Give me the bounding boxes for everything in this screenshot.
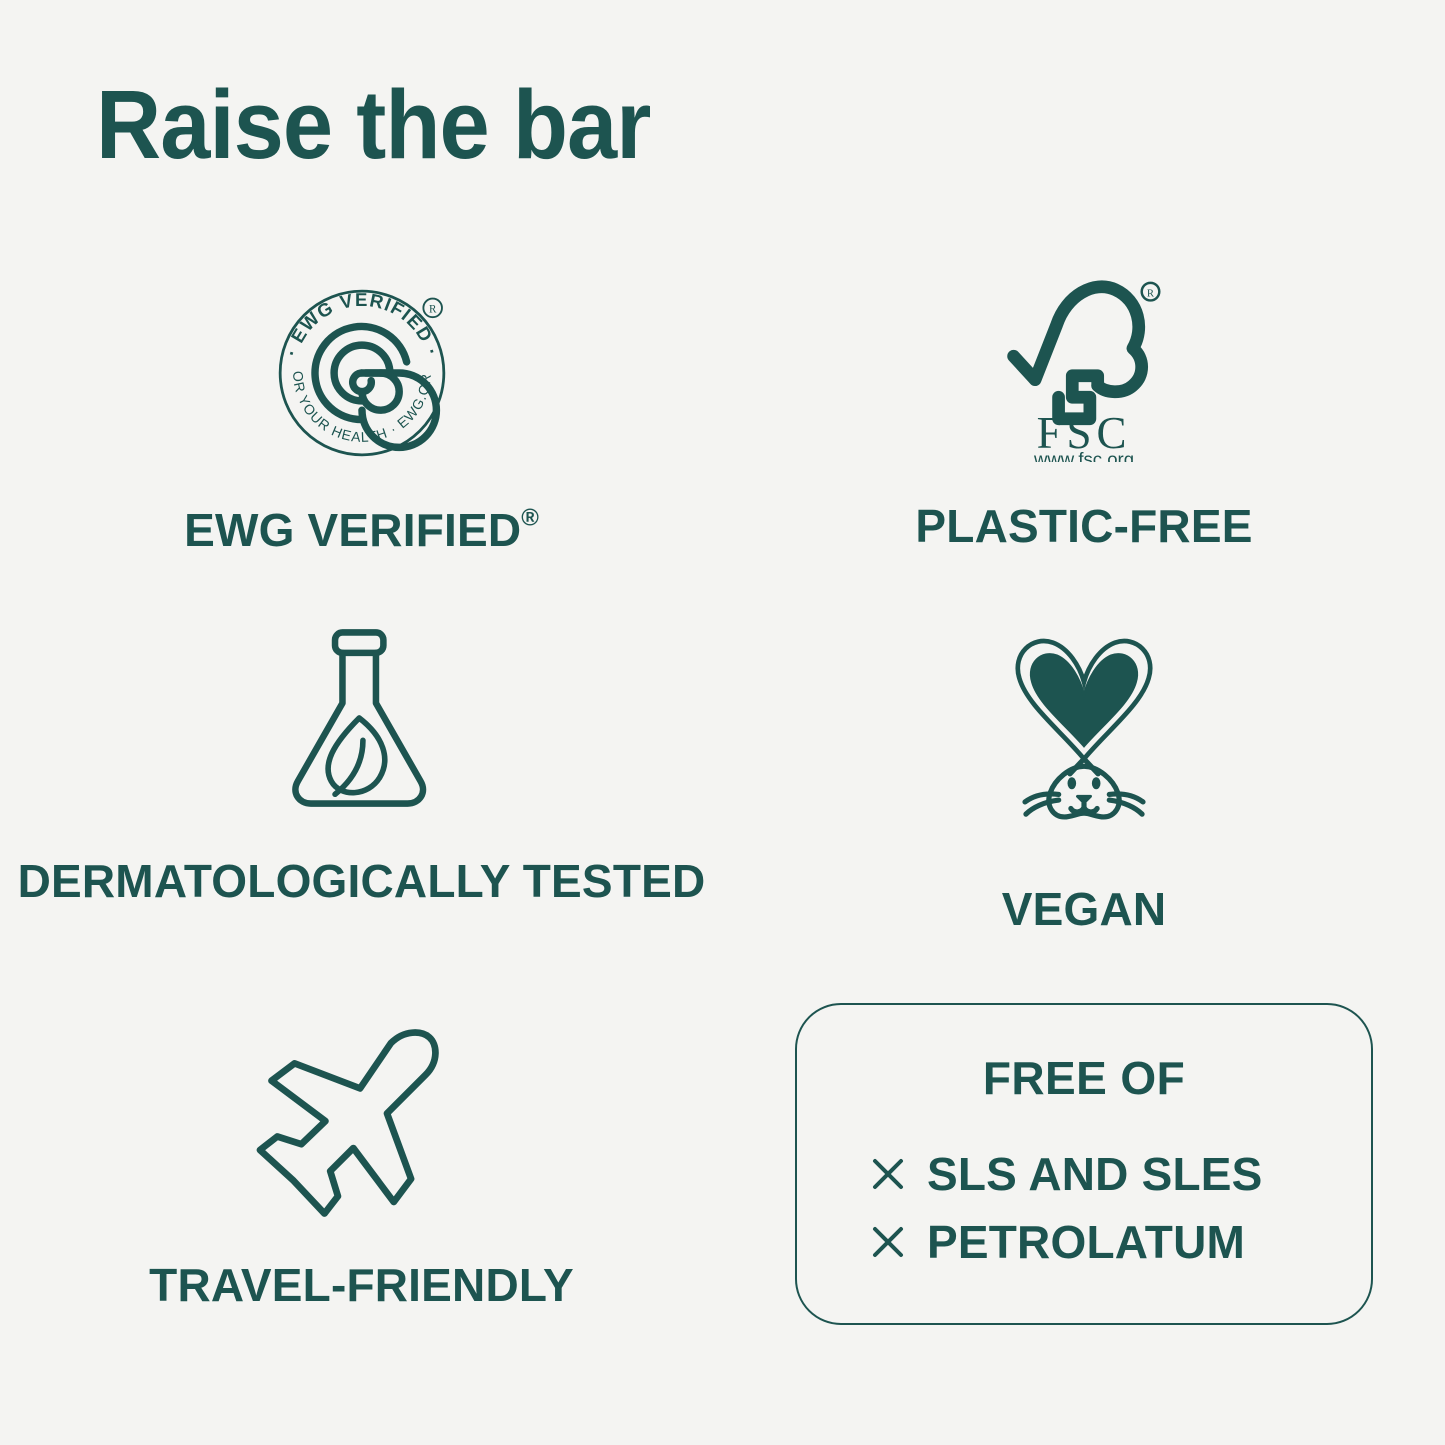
- fsc-url: www.fsc.org: [1033, 449, 1134, 462]
- bunny-heart-ears-icon: [995, 629, 1173, 825]
- badge-travel-friendly: TRAVEL-FRIENDLY: [0, 993, 723, 1365]
- badge-plastic-free: R FSC www.fsc.org PLASTIC-FREE: [723, 258, 1445, 593]
- badge-label: DERMATOLOGICALLY TESTED: [18, 853, 706, 911]
- svg-text:R: R: [428, 304, 436, 316]
- x-mark-icon: [871, 1225, 905, 1259]
- free-of-item-label: SLS AND SLES: [927, 1147, 1263, 1201]
- free-of-list: SLS AND SLES PETROLATUM: [871, 1147, 1263, 1269]
- svg-text:R: R: [1147, 288, 1155, 300]
- airplane-icon: [246, 1021, 478, 1227]
- badge-label: TRAVEL-FRIENDLY: [149, 1257, 574, 1315]
- flask-leaf-icon: [282, 625, 442, 811]
- fsc-tree-checkmark-icon: R FSC www.fsc.org: [996, 266, 1172, 462]
- badge-dermatologically-tested: DERMATOLOGICALLY TESTED: [0, 593, 723, 993]
- badge-ewg-verified: · EWG VERIFIED · FOR YOUR HEALTH · EWG.O…: [0, 258, 723, 593]
- free-of-item: PETROLATUM: [871, 1215, 1263, 1269]
- raise-the-bar-infographic: Raise the bar · EWG VERIFIED · FOR YOUR …: [0, 0, 1445, 1445]
- free-of-title: FREE OF: [983, 1051, 1185, 1105]
- page-title: Raise the bar: [96, 74, 650, 177]
- ewg-verified-seal-icon: · EWG VERIFIED · FOR YOUR HEALTH · EWG.O…: [269, 280, 455, 466]
- free-of-item: SLS AND SLES: [871, 1147, 1263, 1201]
- badge-label: PLASTIC-FREE: [915, 498, 1252, 556]
- badge-vegan: VEGAN: [723, 593, 1445, 993]
- free-of-panel: FREE OF SLS AND SLES: [723, 993, 1445, 1365]
- badge-grid: · EWG VERIFIED · FOR YOUR HEALTH · EWG.O…: [0, 258, 1445, 1365]
- badge-label: EWG VERIFIED®: [184, 502, 539, 560]
- badge-label: VEGAN: [1002, 881, 1167, 939]
- free-of-box: FREE OF SLS AND SLES: [795, 1003, 1373, 1325]
- free-of-item-label: PETROLATUM: [927, 1215, 1245, 1269]
- x-mark-icon: [871, 1157, 905, 1191]
- registered-mark: ®: [521, 505, 539, 532]
